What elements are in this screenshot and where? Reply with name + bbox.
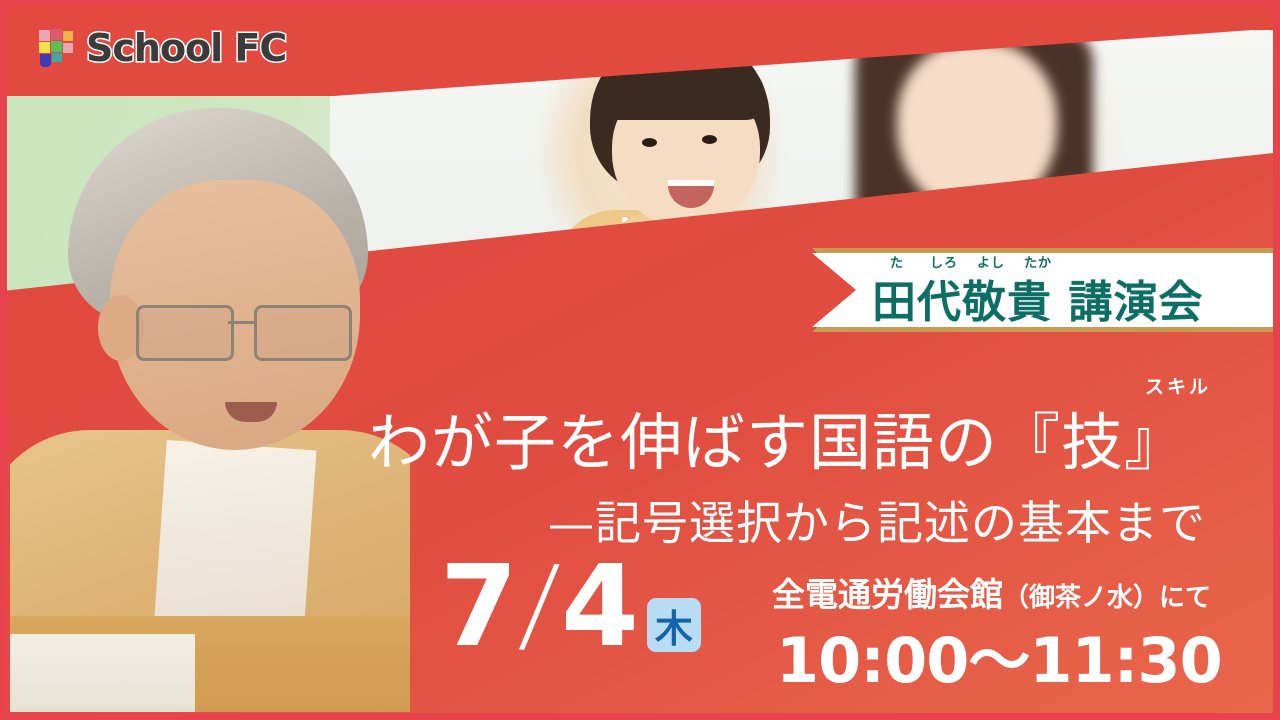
event-day: 4: [561, 554, 637, 660]
event-month: 7: [440, 554, 516, 660]
event-venue: 全電通労働会館（御茶ノ水）にて: [772, 568, 1211, 616]
event-date: 7 / 4 木: [440, 552, 701, 660]
event-time: 10:00〜11:30: [776, 610, 1222, 700]
speaker-banner: た しろ よし たか 田代敬貴 講演会: [872, 252, 1272, 330]
speaker-photo: [10, 100, 410, 712]
day-of-week-badge: 木: [647, 598, 701, 652]
brand-name: School FC: [86, 26, 286, 70]
eyeglasses-icon: [136, 305, 354, 357]
brand-logo[interactable]: School FC: [36, 26, 286, 70]
colorful-flag-icon: [36, 27, 76, 69]
venue-name: 全電通労働会館: [772, 575, 1003, 614]
date-separator: /: [516, 552, 562, 656]
event-poster: School FC た しろ よし たか 田代敬貴 講演会 スキル わが子を伸ば…: [0, 0, 1280, 720]
speaker-name-title: 田代敬貴 講演会: [872, 266, 1203, 330]
venue-note: （御茶ノ水）にて: [1003, 583, 1211, 613]
